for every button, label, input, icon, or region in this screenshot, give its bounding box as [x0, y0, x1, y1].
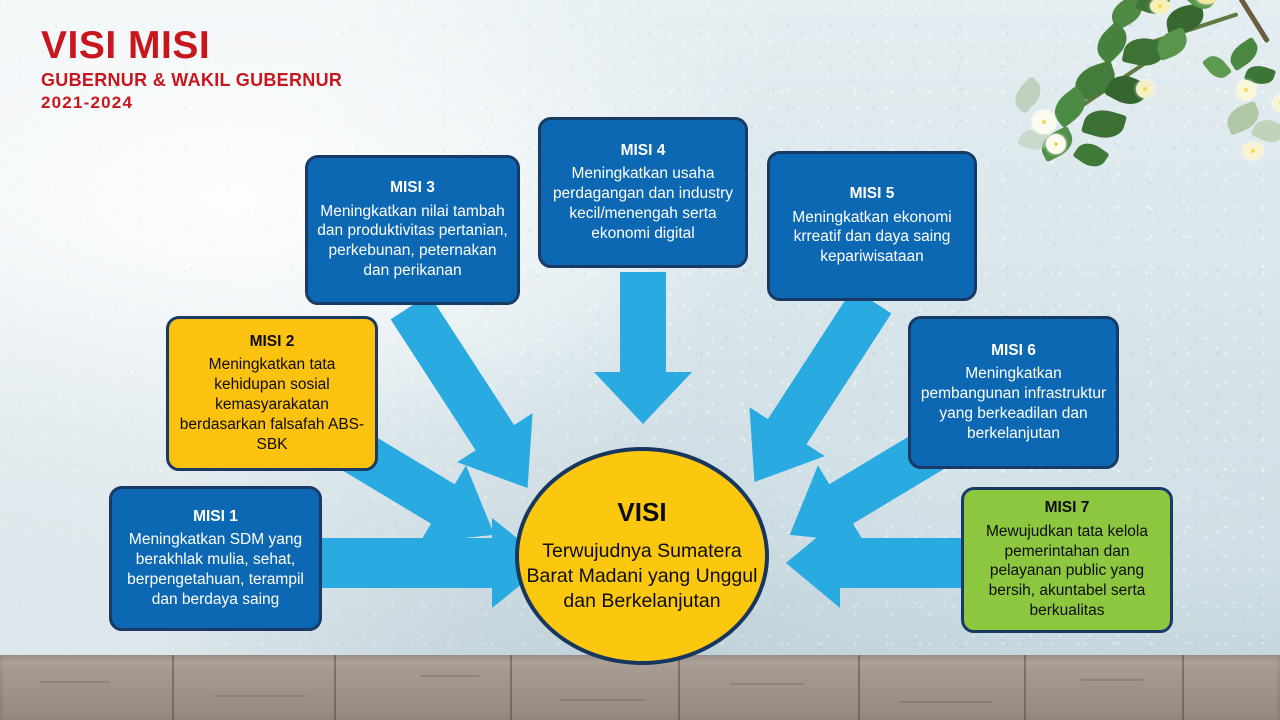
misi-1-card[interactable]: MISI 1 Meningkatkan SDM yang berakhlak m…	[109, 486, 322, 631]
misi-6-card[interactable]: MISI 6 Meningkatkan pembangunan infrastr…	[908, 316, 1119, 469]
misi-5-card[interactable]: MISI 5 Meningkatkan ekonomi krreatif dan…	[767, 151, 977, 301]
misi-2-heading: MISI 2	[250, 333, 295, 352]
page-title: VISI MISI	[41, 26, 342, 67]
misi-4-card[interactable]: MISI 4 Meningkatkan usaha perdagangan da…	[538, 117, 748, 268]
misi-7-heading: MISI 7	[1045, 499, 1090, 518]
misi-7-body: Mewujudkan tata kelola pemerintahan dan …	[973, 522, 1161, 621]
misi-5-body: Meningkatkan ekonomi krreatif dan daya s…	[779, 208, 965, 267]
misi-4-body: Meningkatkan usaha perdagangan dan indus…	[550, 164, 736, 243]
visi-circle[interactable]: VISI Terwujudnya Sumatera Barat Madani y…	[515, 447, 769, 665]
misi-4-heading: MISI 4	[621, 142, 666, 161]
misi-2-card[interactable]: MISI 2 Meningkatkan tata kehidupan sosia…	[166, 316, 378, 471]
misi-7-card[interactable]: MISI 7 Mewujudkan tata kelola pemerintah…	[961, 487, 1173, 633]
misi-3-card[interactable]: MISI 3 Meningkatkan nilai tambah dan pro…	[305, 155, 520, 305]
misi-6-heading: MISI 6	[991, 342, 1036, 361]
slide-canvas: MISI 1 Meningkatkan SDM yang berakhlak m…	[0, 0, 1280, 720]
page-period: 2021-2024	[41, 93, 342, 113]
title-block: VISI MISI GUBERNUR & WAKIL GUBERNUR 2021…	[41, 26, 342, 112]
arrow-misi-4-to-visi	[594, 272, 692, 424]
misi-1-heading: MISI 1	[193, 508, 238, 527]
misi-3-body: Meningkatkan nilai tambah dan produktivi…	[317, 202, 508, 281]
misi-5-heading: MISI 5	[850, 185, 895, 204]
misi-6-body: Meningkatkan pembangunan infrastruktur y…	[920, 364, 1107, 443]
misi-3-heading: MISI 3	[390, 179, 435, 198]
misi-1-body: Meningkatkan SDM yang berakhlak mulia, s…	[121, 530, 310, 609]
visi-body: Terwujudnya Sumatera Barat Madani yang U…	[519, 539, 765, 614]
page-subtitle: GUBERNUR & WAKIL GUBERNUR	[41, 70, 342, 91]
visi-heading: VISI	[617, 498, 666, 527]
misi-2-body: Meningkatkan tata kehidupan sosial kemas…	[178, 355, 366, 454]
